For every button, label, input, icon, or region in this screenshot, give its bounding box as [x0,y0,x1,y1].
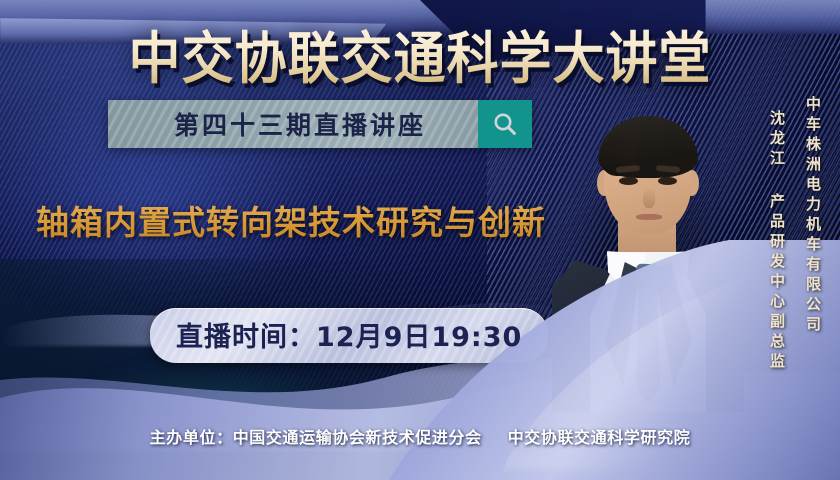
portrait-tie-knot [636,264,661,289]
portrait-tie [636,284,660,404]
speaker-name-title: 沈龙江 产品研发中心副总监 [767,110,788,373]
footer-organizer-2: 中交协联交通科学研究院 [508,428,691,447]
footer-organizer-1: 中国交通运输协会新技术促进分会 [233,428,482,447]
portrait-nose [643,188,655,208]
portrait-eye-left [619,177,638,185]
topic-title: 轴箱内置式转向架技术研究与创新 [36,196,546,244]
subtitle-label: 第四十三期直播讲座 [160,106,426,142]
main-title: 中交协联交通科学大讲堂 [128,13,711,94]
speaker-company: 中车株洲电力机车有限公司 [803,96,824,336]
footer: 主办单位：中国交通运输协会新技术促进分会中交协联交通科学研究院 [0,424,840,448]
livestream-poster: 中交协联交通科学大讲堂 第四十三期直播讲座 轴箱内置式转向架技术研究与创新 直播… [0,0,840,480]
main-title-container: 中交协联交通科学大讲堂 [0,16,840,91]
search-icon [491,110,519,138]
subtitle-field: 第四十三期直播讲座 [108,100,478,148]
livestream-time-text: 直播时间：12月9日19:30 [176,322,522,353]
portrait-mouth [636,214,662,220]
portrait-eye-right [658,177,677,185]
background-teal-glow [17,346,403,471]
subtitle-bar[interactable]: 第四十三期直播讲座 [108,100,532,148]
search-button[interactable] [478,100,532,148]
livestream-time-badge: 直播时间：12月9日19:30 [150,308,548,363]
speaker-portrait [556,92,738,410]
footer-prefix: 主办单位： [150,428,233,447]
